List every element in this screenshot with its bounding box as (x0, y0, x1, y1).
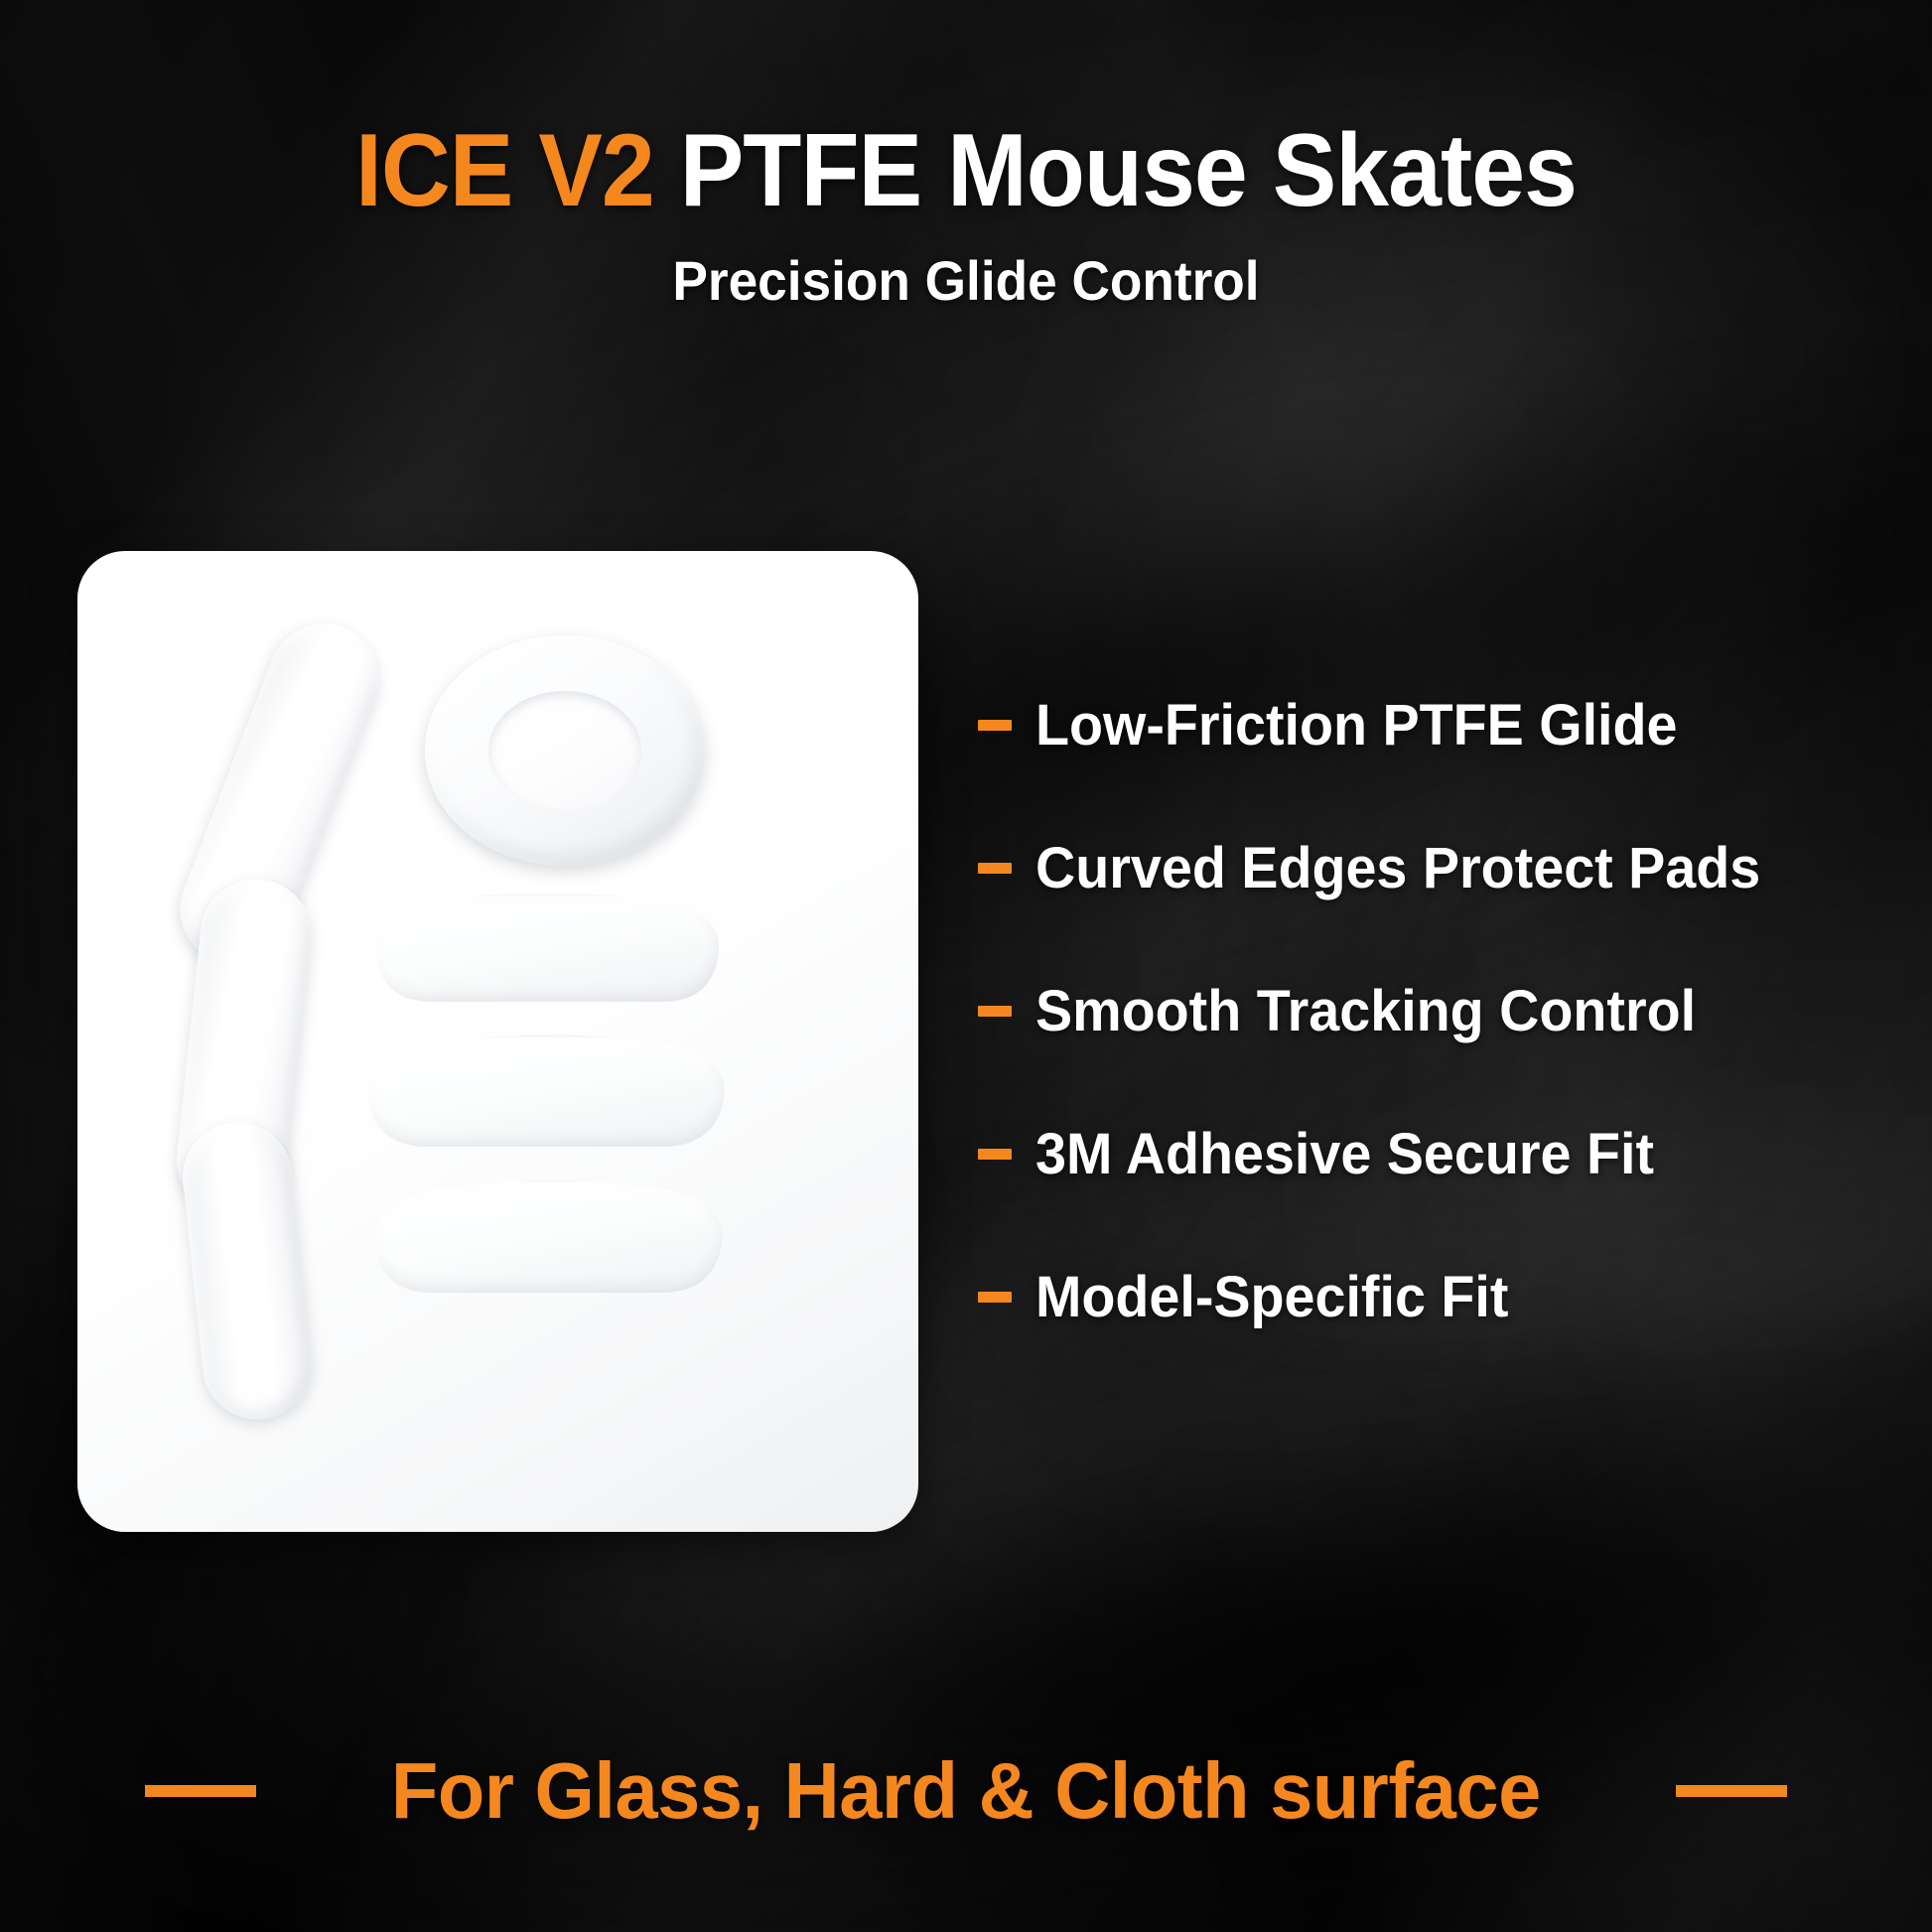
pad-curved-bar-1 (368, 897, 726, 1008)
dash-bullet-icon (978, 1006, 1012, 1017)
feature-item: 3M Adhesive Secure Fit (978, 1082, 1871, 1225)
bottom-banner: For Glass, Hard & Cloth surface (0, 1745, 1932, 1837)
ptfe-pad-group (77, 551, 918, 1532)
product-image-card (77, 551, 918, 1532)
feature-list: Low-Friction PTFE Glide Curved Edges Pro… (978, 653, 1871, 1368)
pad-ring-hole (488, 691, 641, 810)
feature-label: Model-Specific Fit (1035, 1264, 1508, 1330)
feature-item: Model-Specific Fit (978, 1225, 1871, 1368)
feature-item: Low-Friction PTFE Glide (978, 653, 1871, 796)
pad-curved-bar-3 (371, 1181, 731, 1299)
pad-long-curved-strip-segment-bottom (178, 1117, 318, 1425)
banner-text: For Glass, Hard & Cloth surface (391, 1745, 1541, 1837)
banner-rule-left-icon (145, 1785, 256, 1797)
dash-bullet-icon (978, 863, 1012, 874)
header-block: ICE V2 PTFE Mouse Skates Precision Glide… (0, 119, 1932, 313)
page-title-brand: ICE V2 (355, 113, 654, 228)
pad-curved-bar-2 (363, 1037, 733, 1153)
feature-item: Curved Edges Protect Pads (978, 796, 1871, 939)
page-subtitle: Precision Glide Control (49, 248, 1884, 313)
pad-ring (425, 635, 705, 866)
banner-rule-right-icon (1676, 1785, 1787, 1797)
dash-bullet-icon (978, 1149, 1012, 1160)
feature-label: Curved Edges Protect Pads (1035, 835, 1760, 901)
product-marketing-image: ICE V2 PTFE Mouse Skates Precision Glide… (0, 0, 1932, 1932)
dash-bullet-icon (978, 1292, 1012, 1303)
page-title-rest: PTFE Mouse Skates (654, 113, 1577, 228)
feature-label: Smooth Tracking Control (1035, 978, 1696, 1044)
feature-label: 3M Adhesive Secure Fit (1035, 1121, 1654, 1187)
feature-item: Smooth Tracking Control (978, 939, 1871, 1082)
dash-bullet-icon (978, 720, 1012, 731)
page-title: ICE V2 PTFE Mouse Skates (68, 119, 1864, 222)
feature-label: Low-Friction PTFE Glide (1035, 692, 1678, 759)
